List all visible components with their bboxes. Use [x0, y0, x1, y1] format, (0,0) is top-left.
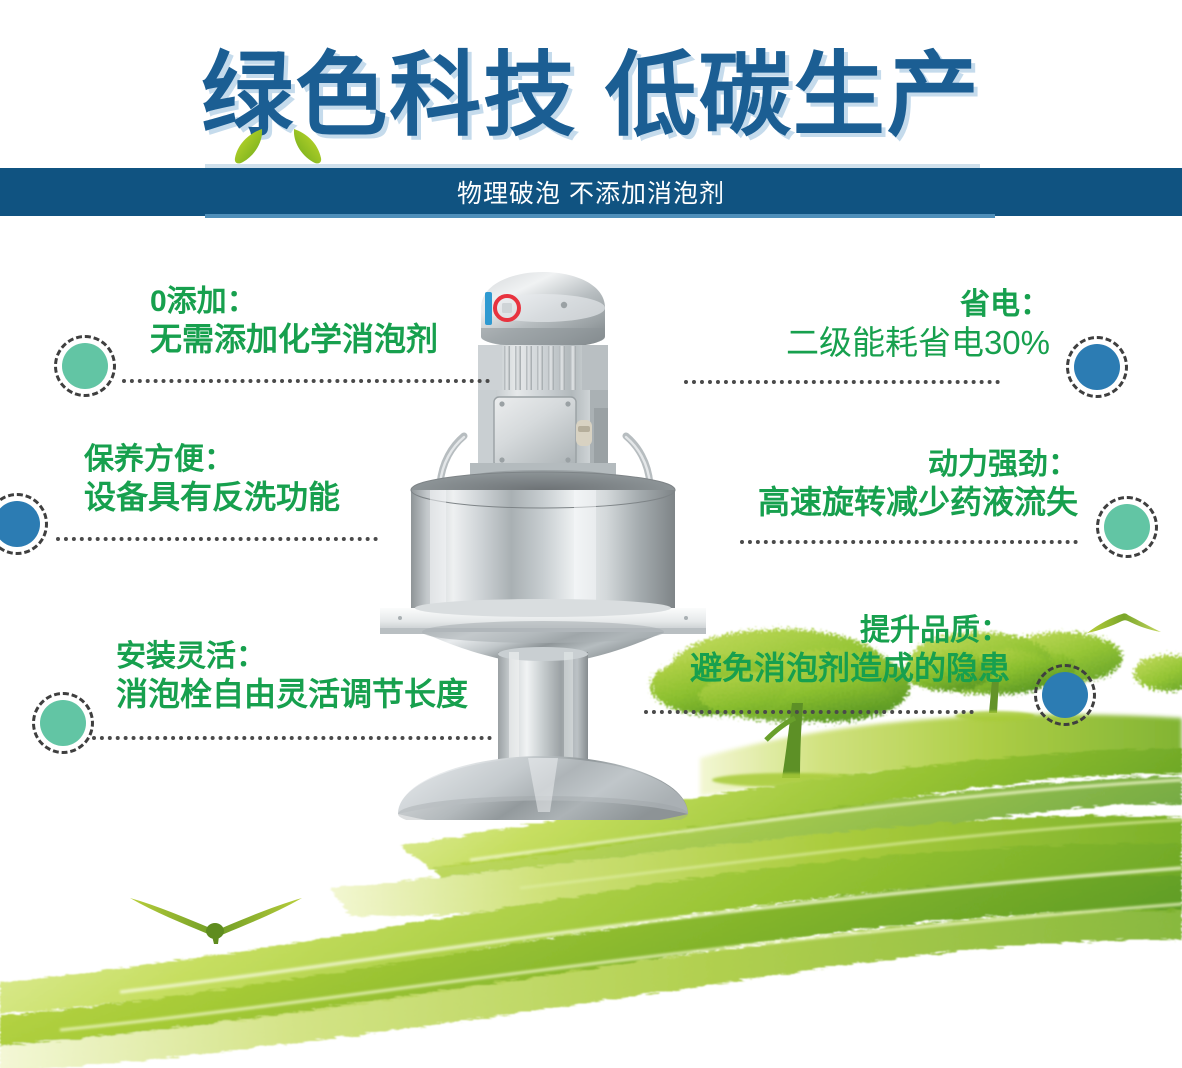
cable-gland: [576, 420, 592, 446]
feature-quality-boost: 提升品质： 避免消泡剂造成的隐患: [600, 614, 1112, 739]
feature-desc: 消泡栓自由灵活调节长度: [116, 677, 468, 713]
motor-fins: [478, 345, 608, 391]
poster-header: 绿色科技 低碳生产 物理破泡 不添加消泡剂: [0, 0, 1182, 232]
feature-marker-blue: [1066, 336, 1128, 398]
feature-title: 省电：: [960, 288, 1050, 322]
feature-desc: 避免消泡剂造成的隐患: [690, 651, 1010, 687]
feature-desc: 高速旋转减少药液流失: [758, 485, 1078, 521]
feature-dash-line: [684, 380, 1000, 384]
feature-marker-mint: [54, 335, 116, 397]
feature-desc: 设备具有反洗功能: [84, 480, 340, 516]
feature-easy-maintenance: 保养方便： 设备具有反洗功能: [0, 443, 398, 563]
feature-marker-mint: [32, 692, 94, 754]
feature-strong-power: 动力强劲： 高速旋转减少药液流失: [700, 448, 1170, 568]
banner-subtitle: 物理破泡 不添加消泡剂: [0, 168, 1182, 216]
page-title: 绿色科技 低碳生产: [0, 48, 1182, 145]
feature-marker-blue: [1034, 664, 1096, 726]
feature-dash-line: [122, 379, 490, 383]
feature-dash-line: [644, 710, 974, 714]
feature-dash-line: [56, 537, 378, 541]
feature-power-saving: 省电： 二级能耗省电30%: [684, 288, 1136, 408]
feature-title: 0添加：: [150, 285, 257, 319]
motor-housing: [481, 272, 605, 348]
feature-marker-blue: [0, 493, 48, 555]
feature-flexible-install: 安装灵活： 消泡栓自由灵活调节长度: [22, 640, 492, 765]
shaft: [498, 647, 588, 764]
feature-title: 安装灵活：: [116, 640, 266, 674]
product-feature-poster: 绿色科技 低碳生产 物理破泡 不添加消泡剂 0添加： 无需添加化学消泡剂 保养方…: [0, 0, 1182, 1068]
terminal-box: [494, 397, 576, 467]
feature-title: 动力强劲：: [928, 448, 1078, 482]
feature-title: 提升品质：: [860, 614, 1010, 648]
feature-zero-additive: 0添加： 无需添加化学消泡剂: [40, 285, 490, 405]
feature-desc: 无需添加化学消泡剂: [150, 322, 438, 358]
feature-desc: 二级能耗省电30%: [786, 325, 1050, 362]
feature-marker-mint: [1096, 496, 1158, 558]
impeller-cone: [398, 756, 688, 820]
feature-dash-line: [92, 736, 492, 740]
bird-icon: [128, 886, 304, 944]
feature-title: 保养方便：: [84, 443, 234, 477]
motor-body: [478, 390, 608, 467]
feature-dash-line: [740, 540, 1078, 544]
